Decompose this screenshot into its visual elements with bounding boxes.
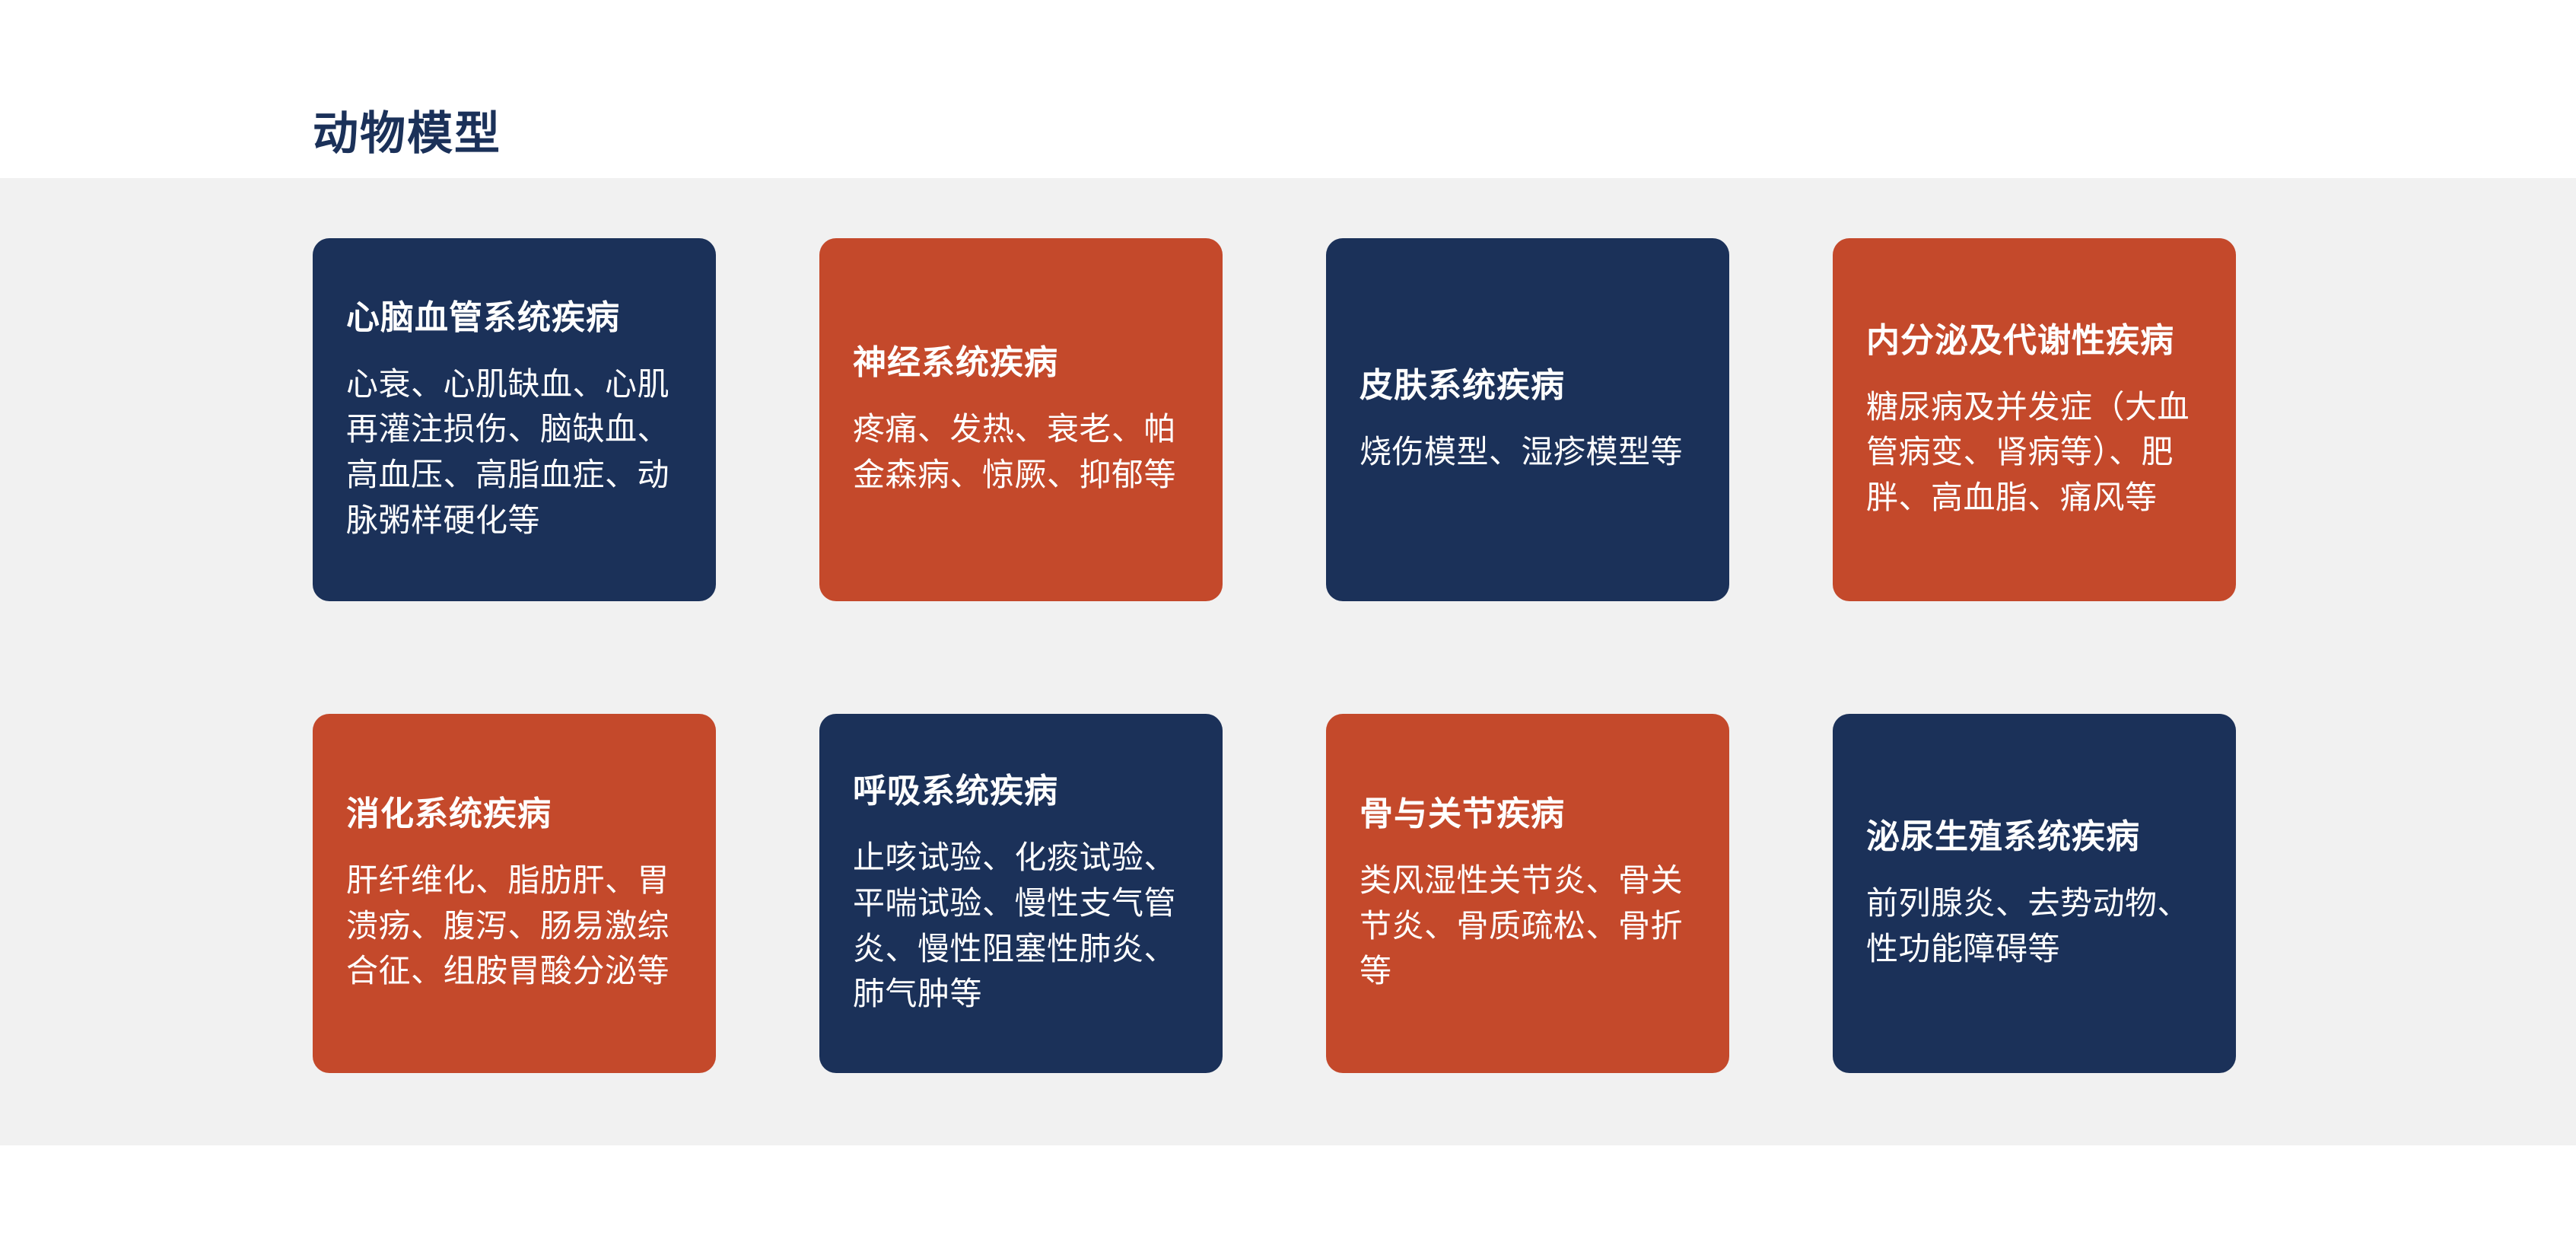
card-title: 神经系统疾病	[853, 342, 1189, 384]
card-body: 糖尿病及并发症（大血管病变、肾病等）、肥胖、高血脂、痛风等	[1866, 384, 2202, 521]
card-title: 消化系统疾病	[346, 793, 682, 835]
card-body: 前列腺炎、去势动物、性功能障碍等	[1866, 881, 2202, 971]
card-title: 内分泌及代谢性疾病	[1866, 320, 2202, 361]
disease-card-urogenital[interactable]: 泌尿生殖系统疾病 前列腺炎、去势动物、性功能障碍等	[1833, 714, 2236, 1073]
disease-card-respiratory[interactable]: 呼吸系统疾病 止咳试验、化痰试验、平喘试验、慢性支气管炎、慢性阻塞性肺炎、肺气肿…	[819, 714, 1223, 1073]
card-body: 类风湿性关节炎、骨关节炎、骨质疏松、骨折等	[1360, 858, 1696, 994]
disease-card-digestive[interactable]: 消化系统疾病 肝纤维化、脂肪肝、胃溃疡、腹泻、肠易激综合征、组胺胃酸分泌等	[313, 714, 716, 1073]
card-title: 骨与关节疾病	[1360, 793, 1696, 835]
disease-card-neurological[interactable]: 神经系统疾病 疼痛、发热、衰老、帕金森病、惊厥、抑郁等	[819, 238, 1223, 601]
disease-card-cardiovascular[interactable]: 心脑血管系统疾病 心衰、心肌缺血、心肌再灌注损伤、脑缺血、高血压、高脂血症、动脉…	[313, 238, 716, 601]
card-body: 烧伤模型、湿疹模型等	[1360, 429, 1696, 475]
page-root: 动物模型 心脑血管系统疾病 心衰、心肌缺血、心肌再灌注损伤、脑缺血、高血压、高脂…	[0, 0, 2576, 1242]
disease-card-grid: 心脑血管系统疾病 心衰、心肌缺血、心肌再灌注损伤、脑缺血、高血压、高脂血症、动脉…	[313, 238, 2236, 1073]
card-body: 止咳试验、化痰试验、平喘试验、慢性支气管炎、慢性阻塞性肺炎、肺气肿等	[853, 835, 1189, 1017]
footer-band	[0, 1145, 2576, 1242]
header-band: 动物模型	[0, 0, 2576, 178]
disease-card-dermatological[interactable]: 皮肤系统疾病 烧伤模型、湿疹模型等	[1326, 238, 1729, 601]
card-body: 心衰、心肌缺血、心肌再灌注损伤、脑缺血、高血压、高脂血症、动脉粥样硬化等	[346, 361, 682, 543]
page-title: 动物模型	[313, 107, 501, 160]
disease-card-endocrine-metabolic[interactable]: 内分泌及代谢性疾病 糖尿病及并发症（大血管病变、肾病等）、肥胖、高血脂、痛风等	[1833, 238, 2236, 601]
card-title: 呼吸系统疾病	[853, 770, 1189, 812]
disease-card-bone-joint[interactable]: 骨与关节疾病 类风湿性关节炎、骨关节炎、骨质疏松、骨折等	[1326, 714, 1729, 1073]
content-band: 心脑血管系统疾病 心衰、心肌缺血、心肌再灌注损伤、脑缺血、高血压、高脂血症、动脉…	[0, 178, 2576, 1145]
card-title: 皮肤系统疾病	[1360, 365, 1696, 406]
card-title: 心脑血管系统疾病	[346, 297, 682, 339]
card-title: 泌尿生殖系统疾病	[1866, 816, 2202, 858]
card-body: 疼痛、发热、衰老、帕金森病、惊厥、抑郁等	[853, 406, 1189, 497]
card-body: 肝纤维化、脂肪肝、胃溃疡、腹泻、肠易激综合征、组胺胃酸分泌等	[346, 858, 682, 994]
